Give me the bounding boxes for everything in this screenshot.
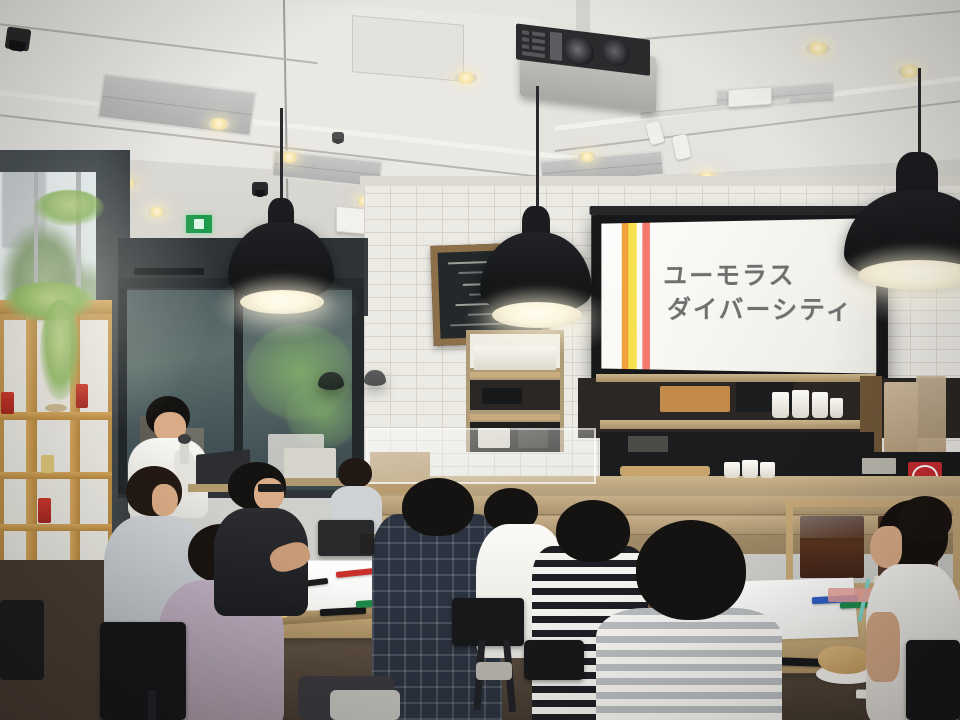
pendant-lamp bbox=[318, 372, 344, 390]
trailing-plant bbox=[40, 300, 80, 400]
recessed-downlight bbox=[208, 118, 230, 130]
lamp-cord bbox=[536, 86, 539, 218]
emergency-exit-sign bbox=[186, 215, 212, 233]
trash-bin bbox=[0, 600, 44, 680]
lamp-cord bbox=[280, 108, 283, 210]
red-canister bbox=[76, 384, 88, 408]
attendee-far-right bbox=[890, 496, 960, 616]
security-camera bbox=[5, 26, 32, 51]
ceramic-cups bbox=[812, 392, 828, 418]
ceramic-cups bbox=[724, 462, 740, 478]
photo-scene: ユーモラス ダイバーシティ bbox=[0, 0, 960, 720]
cutting-board bbox=[620, 466, 710, 476]
register-label bbox=[862, 458, 896, 474]
eyeglasses bbox=[258, 484, 284, 492]
glass-display-case bbox=[366, 428, 596, 484]
attendee-black-tee-glasses bbox=[214, 462, 310, 612]
door-handle[interactable] bbox=[134, 268, 204, 275]
slide-title-line2: ダイバーシティ bbox=[667, 293, 869, 328]
red-canister bbox=[38, 498, 51, 523]
wall-trim bbox=[360, 176, 960, 186]
bowl bbox=[45, 404, 67, 412]
security-camera bbox=[252, 182, 268, 196]
chair[interactable] bbox=[524, 640, 584, 680]
security-camera bbox=[332, 132, 344, 143]
slide-stripe-yellow bbox=[628, 223, 636, 369]
bar-shelf bbox=[600, 420, 870, 429]
attendee-navy-plaid-head bbox=[402, 478, 474, 536]
attendee-grey-striped-polo bbox=[596, 608, 782, 720]
arm bbox=[866, 612, 900, 682]
ceramic-cups bbox=[772, 392, 789, 418]
floor-bag bbox=[330, 690, 400, 720]
lamp-glow bbox=[492, 302, 582, 328]
chair-leg bbox=[148, 690, 156, 720]
ceramic-cups bbox=[792, 390, 809, 418]
ceramic-cups bbox=[742, 460, 758, 478]
candle-jar bbox=[41, 455, 54, 473]
pastry-on-plate bbox=[818, 646, 872, 674]
ceramic-cups bbox=[830, 398, 843, 418]
lamp-glow bbox=[240, 290, 324, 314]
chair[interactable] bbox=[906, 640, 960, 720]
red-canister bbox=[1, 392, 14, 414]
counter-sign bbox=[628, 436, 668, 452]
chair[interactable] bbox=[452, 598, 524, 646]
screen-roller bbox=[590, 206, 893, 215]
recessed-downlight bbox=[578, 152, 596, 162]
slide-title-line1: ユーモラス bbox=[663, 258, 869, 293]
pendant-lamp bbox=[364, 370, 386, 386]
ceramic-cups bbox=[760, 462, 775, 478]
sandal bbox=[476, 662, 512, 680]
recessed-downlight bbox=[455, 72, 477, 84]
lamp-cord bbox=[918, 68, 921, 164]
bar-equipment bbox=[660, 386, 730, 412]
ceiling-speaker bbox=[728, 86, 772, 107]
projection-screen: ユーモラス ダイバーシティ bbox=[591, 209, 888, 388]
bar-shelf bbox=[596, 374, 876, 382]
trailing-plant bbox=[34, 190, 104, 226]
attendee-grey-striped-head bbox=[636, 520, 746, 620]
chair[interactable] bbox=[100, 622, 186, 720]
recessed-downlight bbox=[148, 207, 166, 217]
attendee-striped-head bbox=[556, 500, 630, 562]
ceiling-hatch bbox=[352, 15, 464, 82]
slide-stripe-salmon bbox=[642, 223, 650, 370]
recessed-downlight bbox=[806, 42, 830, 55]
chair[interactable] bbox=[318, 520, 374, 556]
